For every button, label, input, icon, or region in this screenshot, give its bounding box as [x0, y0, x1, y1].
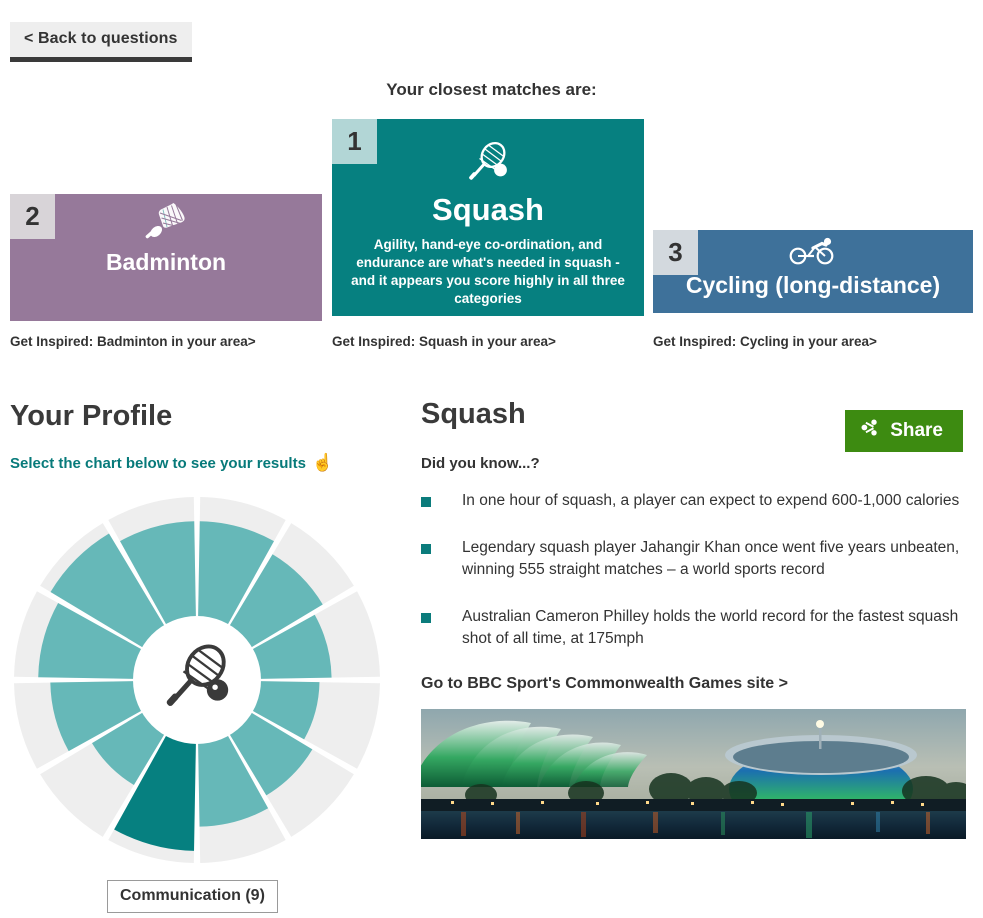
rank-badge-badminton: 2: [10, 194, 55, 239]
get-inspired-link-badminton[interactable]: Get Inspired: Badminton in your area>: [10, 334, 256, 349]
did-you-know-heading: Did you know...?: [421, 455, 973, 472]
pointing-hand-icon: ☝: [312, 453, 333, 473]
venue-photo: [421, 709, 966, 839]
list-item: Australian Cameron Philley holds the wor…: [421, 606, 973, 650]
card-body-badminton[interactable]: 2: [10, 194, 322, 321]
chart-instruction-text: Select the chart below to see your resul…: [10, 455, 306, 472]
share-nodes-icon: [861, 419, 878, 442]
fact-text: Legendary squash player Jahangir Khan on…: [462, 537, 973, 581]
get-inspired-link-squash[interactable]: Get Inspired: Squash in your area>: [332, 334, 556, 349]
matches-cards: 2: [0, 119, 983, 354]
fact-text: Australian Cameron Philley holds the wor…: [462, 606, 973, 650]
facts-list: In one hour of squash, a player can expe…: [421, 490, 973, 650]
sport-detail-panel: Squash Share Did you know...?: [421, 398, 973, 839]
list-item: In one hour of squash, a player can expe…: [421, 490, 973, 512]
squash-racket-ball-icon: [332, 141, 644, 190]
fact-text: In one hour of squash, a player can expe…: [462, 490, 959, 512]
back-to-questions-button[interactable]: < Back to questions: [10, 22, 192, 62]
results-page: < Back to questions Your closest matches…: [0, 0, 983, 918]
share-button-label: Share: [890, 420, 943, 442]
card-title-cycling: Cycling (long-distance): [653, 272, 973, 298]
badminton-shuttlecock-racket-icon: [10, 194, 322, 247]
card-description-squash: Agility, hand-eye co-ordination, and end…: [332, 236, 644, 309]
rank-badge-cycling: 3: [653, 230, 698, 275]
back-nav: < Back to questions: [10, 22, 192, 62]
card-title-squash: Squash: [332, 192, 644, 228]
matches-heading: Your closest matches are:: [0, 80, 983, 100]
bbc-sport-link[interactable]: Go to BBC Sport's Commonwealth Games sit…: [421, 675, 973, 693]
chart-tooltip: Communication (9): [107, 880, 278, 913]
cyclist-icon: [653, 236, 973, 271]
card-body-cycling[interactable]: 3 Cycling (long-distance): [653, 230, 973, 313]
card-title-badminton: Badminton: [10, 249, 322, 275]
rank-badge-squash: 1: [332, 119, 377, 164]
list-item: Legendary squash player Jahangir Khan on…: [421, 537, 973, 581]
bullet-square-icon: [421, 613, 431, 623]
radial-chart-svg[interactable]: [7, 490, 387, 870]
get-inspired-link-cycling[interactable]: Get Inspired: Cycling in your area>: [653, 334, 877, 349]
profile-radial-chart[interactable]: [7, 490, 387, 870]
bullet-square-icon: [421, 544, 431, 554]
your-profile-heading: Your Profile: [10, 400, 172, 433]
venue-photo-artwork: [421, 709, 966, 839]
bullet-square-icon: [421, 497, 431, 507]
card-body-squash[interactable]: 1 Squash Agility, hand-eye co-ordination…: [332, 119, 644, 316]
share-button[interactable]: Share: [845, 410, 963, 452]
chart-instruction: Select the chart below to see your resul…: [10, 453, 333, 473]
